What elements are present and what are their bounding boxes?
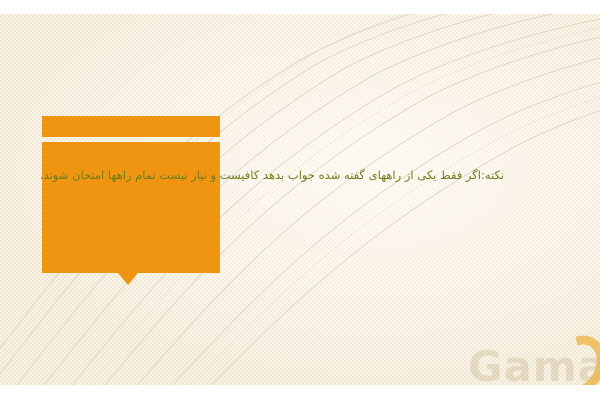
top-margin-band bbox=[0, 0, 600, 14]
callout-tail-icon bbox=[118, 273, 138, 285]
note-callout bbox=[42, 116, 220, 273]
bottom-margin-band bbox=[0, 385, 600, 400]
callout-header-bar bbox=[42, 116, 220, 137]
callout-body bbox=[42, 142, 220, 273]
note-text: نکته:اگر فقط یکی از راههای گفته شده جواب… bbox=[84, 167, 504, 183]
slide-canvas: نکته:اگر فقط یکی از راههای گفته شده جواب… bbox=[0, 0, 600, 400]
